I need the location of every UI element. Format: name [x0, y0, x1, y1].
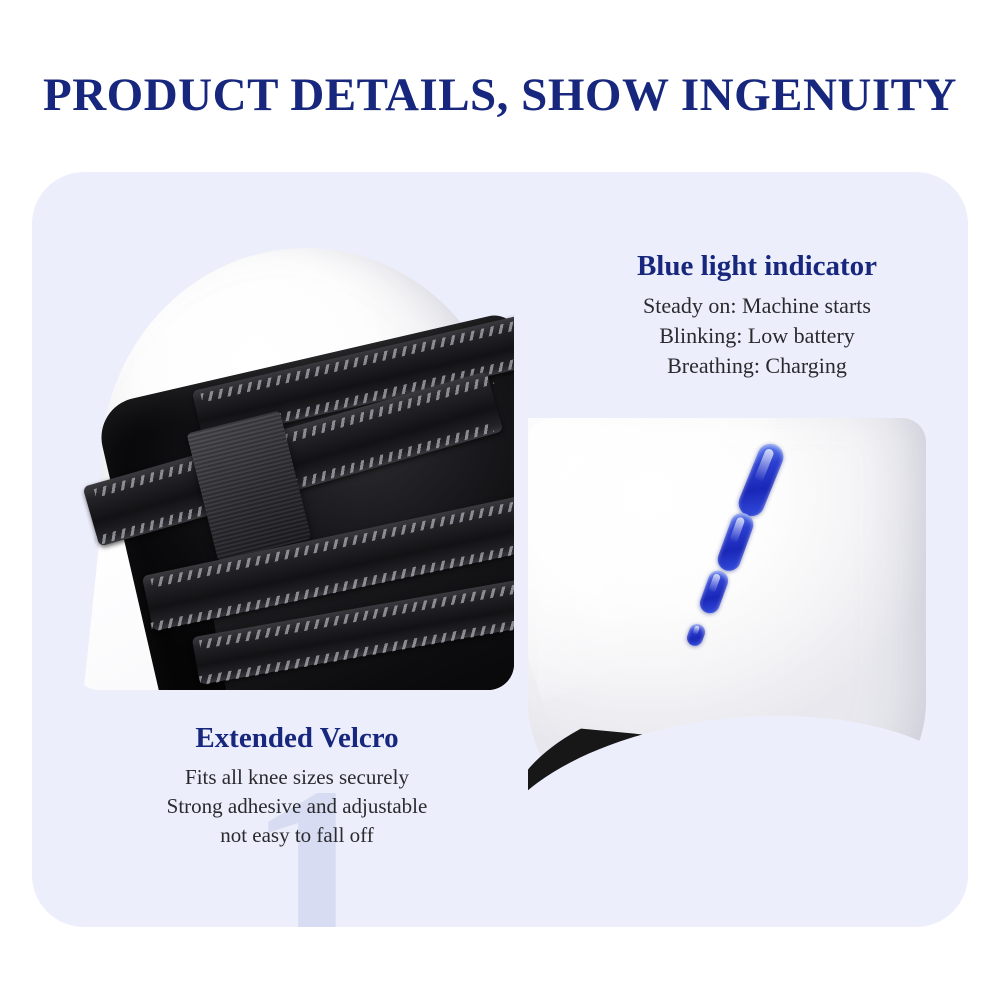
feature-heading: Blue light indicator: [572, 250, 942, 283]
feature-line: Fits all knee sizes securely: [92, 763, 502, 792]
feature-caption-blue-light-indicator: Blue light indicator Steady on: Machine …: [572, 250, 942, 380]
feature-line: Steady on: Machine starts: [572, 291, 942, 321]
feature-photo-blue-light-indicator: [528, 418, 926, 838]
feature-line: Breathing: Charging: [572, 351, 942, 381]
feature-photo-extended-velcro: [73, 232, 514, 690]
page-title: PRODUCT DETAILS, SHOW INGENUITY: [0, 72, 1000, 119]
feature-line: not easy to fall off: [92, 821, 502, 850]
feature-heading: Extended Velcro: [92, 722, 502, 755]
feature-caption-extended-velcro: Extended Velcro Fits all knee sizes secu…: [92, 722, 502, 850]
feature-line: Strong adhesive and adjustable: [92, 792, 502, 821]
feature-line: Blinking: Low battery: [572, 321, 942, 351]
content-card: 1 2 Blue light indicator Ste: [32, 172, 968, 927]
